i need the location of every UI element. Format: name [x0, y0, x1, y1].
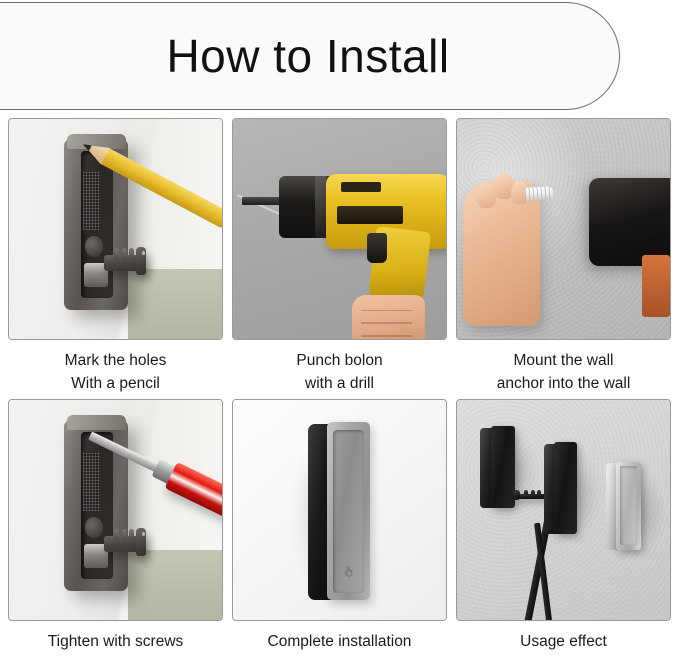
step-card-1: Mark the holes With a pencil [8, 118, 223, 395]
caption-line-1: Tighten with screws [48, 633, 184, 650]
drill-bit [242, 197, 282, 205]
hook-notch [114, 529, 119, 541]
bracket-mesh-texture [83, 452, 100, 511]
touch-hand-icon [342, 562, 354, 582]
hook-notch [524, 490, 528, 494]
knuckle [476, 183, 496, 208]
hook-front-face [491, 426, 516, 507]
hook-front-inset [333, 430, 364, 594]
rubber-mallet-head [589, 178, 671, 266]
step-caption-3: Mount the wall anchor into the wall [456, 349, 671, 395]
steps-grid: Mark the holes With a pencil [8, 118, 671, 652]
hand [352, 295, 424, 340]
bracket-pivot-knob [85, 517, 103, 538]
hand [463, 181, 540, 326]
hook-notch [537, 490, 541, 494]
hook-notch [129, 248, 134, 260]
step-caption-6: Usage effect [456, 630, 671, 653]
caption-line-2: anchor into the wall [456, 372, 671, 395]
step-image-1 [8, 118, 223, 340]
how-to-install-infographic: How to Install [0, 0, 679, 659]
hook-notch [129, 529, 134, 541]
caption-line-2: With a pencil [8, 372, 223, 395]
step-image-3 [456, 118, 671, 340]
hook-black-open [544, 442, 576, 534]
hook-end-highlight [142, 532, 145, 537]
step-caption-4: Tighten with screws [8, 630, 223, 653]
bracket-pivot-knob [85, 236, 103, 257]
step-image-4 [8, 399, 223, 621]
step-card-4: Tighten with screws [8, 399, 223, 653]
step-image-6 [456, 399, 671, 621]
step-caption-1: Mark the holes With a pencil [8, 349, 223, 395]
step-card-3: Mount the wall anchor into the wall [456, 118, 671, 395]
step-card-5: Complete installation [232, 399, 447, 653]
header-pill: How to Install [0, 2, 620, 110]
step-card-2: Punch bolon with a drill [232, 118, 447, 395]
finger-crease [361, 335, 412, 337]
caption-line-1: Complete installation [268, 633, 412, 650]
hook-arm-end [513, 490, 521, 500]
hook-notch [122, 248, 127, 260]
step-image-5 [232, 399, 447, 621]
hook-end-highlight [142, 251, 145, 256]
hook-notch [122, 529, 127, 541]
hook-front-face [616, 462, 641, 550]
hook-notch [531, 490, 535, 494]
finger-crease [361, 310, 412, 312]
hook-front-face [554, 442, 577, 534]
drill-chuck-ring [315, 176, 326, 238]
step-caption-5: Complete installation [232, 630, 447, 653]
hook-arm [104, 245, 145, 279]
installed-hook [308, 424, 368, 600]
caption-line-1: Punch bolon [296, 352, 382, 369]
drill-side-vent [337, 206, 403, 224]
hook-black-closed [480, 426, 514, 507]
drill-top-vent [341, 182, 381, 192]
hook-arm-end [136, 247, 147, 276]
page-title: How to Install [130, 29, 449, 83]
step-caption-2: Punch bolon with a drill [232, 349, 447, 395]
hook-front-face [327, 422, 370, 600]
hook-arm [104, 526, 145, 560]
caption-line-2: with a drill [232, 372, 447, 395]
hook-notch [114, 248, 119, 260]
power-drill [271, 174, 447, 288]
step-image-2 [232, 118, 447, 340]
finger-crease [361, 322, 412, 324]
wall-anchor [525, 186, 554, 201]
bracket-mesh-texture [83, 171, 100, 230]
caption-line-1: Mark the holes [65, 352, 167, 369]
hook-arm-end [136, 528, 147, 557]
mallet-handle [642, 255, 670, 317]
hook-front-inset [620, 466, 637, 545]
caption-line-1: Usage effect [520, 633, 607, 650]
step-card-6: Usage effect [456, 399, 671, 653]
hook-silver-closed [606, 462, 640, 550]
caption-line-1: Mount the wall [514, 352, 614, 369]
drill-trigger [367, 233, 387, 263]
